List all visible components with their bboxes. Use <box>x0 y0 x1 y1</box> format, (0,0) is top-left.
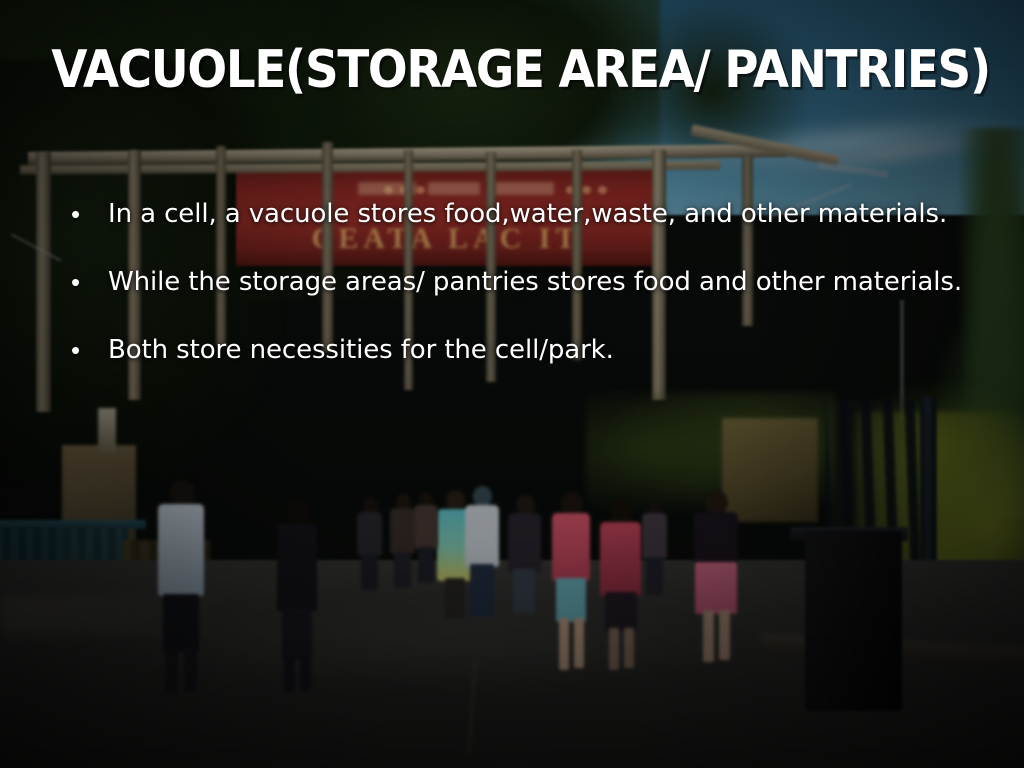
bullet-marker-icon: • <box>62 196 108 232</box>
bullet-text: While the storage areas/ pantries stores… <box>108 264 1012 300</box>
bullet-marker-icon: • <box>62 332 108 368</box>
bullet-text: Both store necessities for the cell/park… <box>108 332 1012 368</box>
slide-title: VACUOLE(STORAGE AREA/ PANTRIES) <box>51 40 973 100</box>
bullet-list: • In a cell, a vacuole stores food,water… <box>62 196 1012 400</box>
slide-content: VACUOLE(STORAGE AREA/ PANTRIES) • In a c… <box>0 0 1024 768</box>
list-item: • In a cell, a vacuole stores food,water… <box>62 196 1012 232</box>
presentation-slide: CEATA LAC IT <box>0 0 1024 768</box>
bullet-marker-icon: • <box>62 264 108 300</box>
list-item: • While the storage areas/ pantries stor… <box>62 264 1012 300</box>
list-item: • Both store necessities for the cell/pa… <box>62 332 1012 368</box>
bullet-text: In a cell, a vacuole stores food,water,w… <box>108 196 1012 232</box>
